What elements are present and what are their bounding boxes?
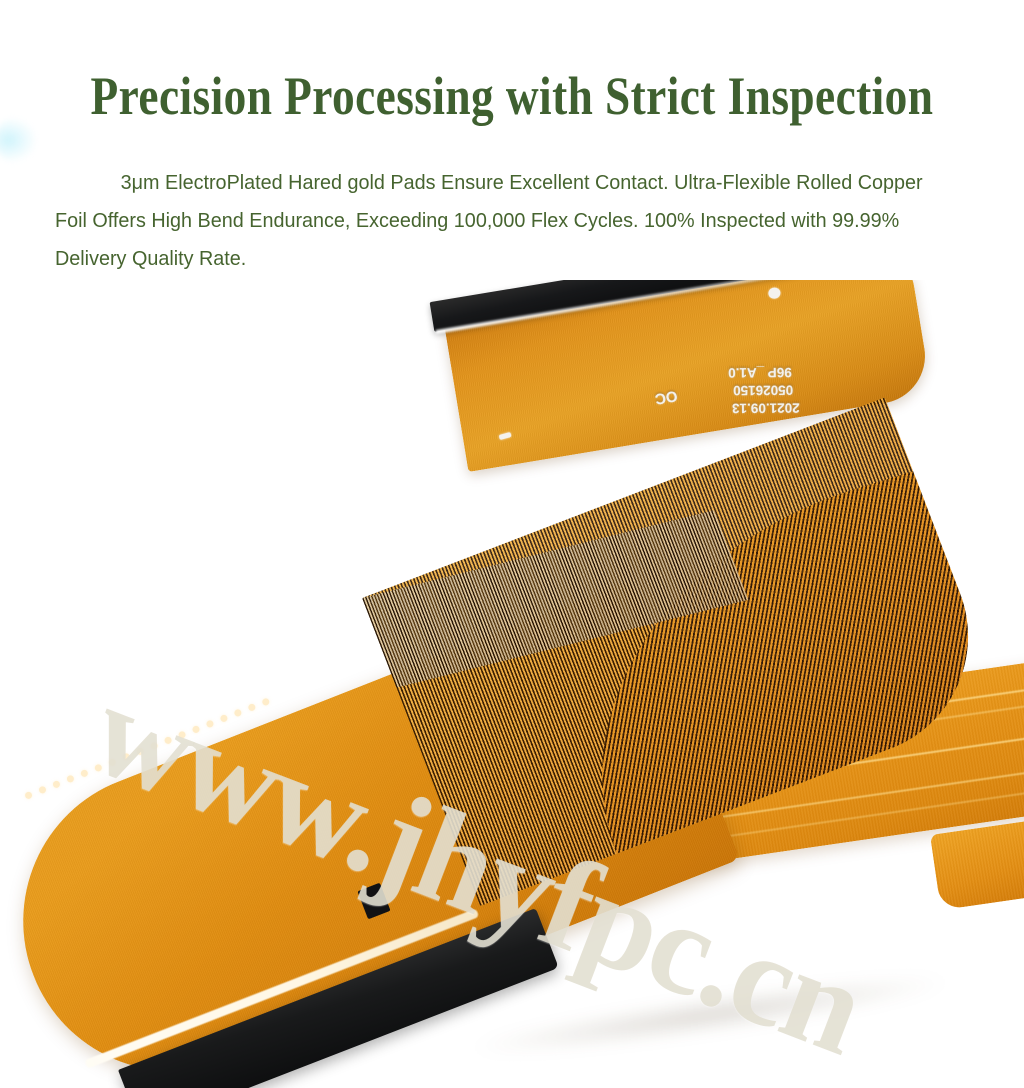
emboss-dot bbox=[219, 713, 228, 722]
emboss-dot bbox=[149, 741, 158, 750]
blue-smudge-artifact bbox=[0, 118, 36, 162]
page-root: Precision Processing with Strict Inspect… bbox=[0, 0, 1024, 1088]
legend-part-revision: 96P _A1.0 bbox=[728, 365, 792, 380]
page-title: Precision Processing with Strict Inspect… bbox=[82, 68, 942, 125]
emboss-dot bbox=[66, 774, 75, 783]
emboss-dot bbox=[247, 702, 256, 711]
product-photo: OC 96P _A1.0 05026150 2021.09.13 bbox=[0, 280, 1024, 1088]
emboss-dot bbox=[94, 763, 103, 772]
emboss-dot bbox=[163, 735, 172, 744]
emboss-dot bbox=[261, 697, 270, 706]
legend-date-code: 2021.09.13 bbox=[732, 400, 800, 415]
stiffener-bottom-notch bbox=[545, 1060, 563, 1074]
emboss-dot bbox=[38, 785, 47, 794]
tail-dot-mark bbox=[768, 287, 782, 300]
flex-ribbon-step-notch bbox=[930, 819, 1024, 910]
intro-paragraph: 3μm ElectroPlated Hared gold Pads Ensure… bbox=[55, 164, 948, 278]
emboss-dot bbox=[135, 746, 144, 755]
cable-shadow-right bbox=[470, 967, 950, 1064]
legend-part-number: 05026150 bbox=[733, 383, 793, 398]
legend-orientation-mark: OC bbox=[654, 387, 679, 407]
emboss-dot bbox=[205, 719, 214, 728]
emboss-dot bbox=[108, 757, 117, 766]
emboss-dot bbox=[52, 779, 61, 788]
emboss-dot bbox=[233, 708, 242, 717]
header-block: Precision Processing with Strict Inspect… bbox=[0, 0, 1024, 280]
emboss-dot bbox=[191, 724, 200, 733]
emboss-dot bbox=[122, 752, 131, 761]
emboss-dot bbox=[24, 790, 33, 799]
emboss-dot bbox=[177, 730, 186, 739]
emboss-dot bbox=[80, 768, 89, 777]
tail-slot-mark bbox=[499, 432, 512, 440]
